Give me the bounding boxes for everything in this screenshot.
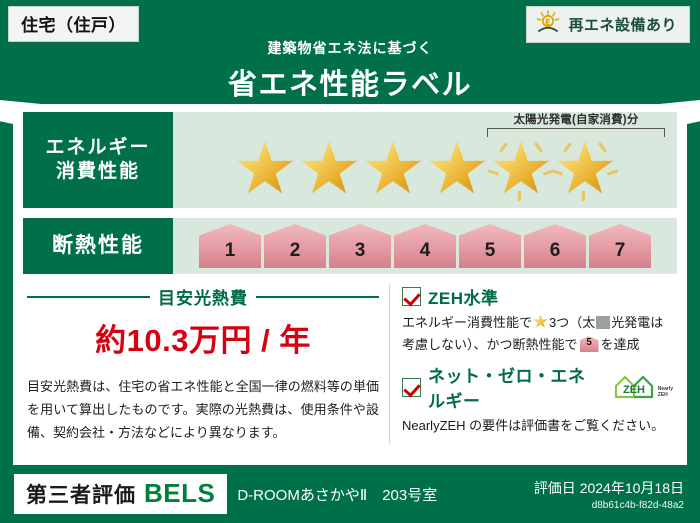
star-icon — [426, 138, 488, 200]
checkbox-checked-icon[interactable] — [402, 287, 421, 306]
insulation-performance-row: 断熱性能 1 2 3 — [23, 218, 677, 274]
lower-section: 目安光熱費 約10.3万円 / 年 目安光熱費は、住宅の省エネ性能と全国一律の燃… — [13, 274, 687, 444]
house-level-badge: 4 — [394, 224, 456, 268]
insulation-levels-panel: 1 2 3 4 — [173, 218, 677, 274]
zeh-house-mark-icon: ZEH — [612, 374, 656, 400]
solar-annotation-bracket — [487, 128, 665, 137]
bels-certification-badge: 第三者評価 BELS — [14, 474, 227, 514]
energy-stars-panel: 太陽光発電(自家消費)分 — [173, 112, 677, 208]
label-title-main: 省エネ性能ラベル — [0, 61, 700, 103]
house-level-badge: 7 — [589, 224, 651, 268]
energy-label-line1: エネルギー — [45, 136, 150, 160]
house-level-number: 1 — [225, 241, 236, 268]
house-level-number: 6 — [550, 241, 561, 268]
house-level-number: 7 — [615, 241, 626, 268]
energy-performance-row: エネルギー 消費性能 太陽光発電(自家消費)分 — [23, 112, 677, 208]
zeh-standard-check-item: ZEH水準 エネルギー消費性能で3つ（太光発電は考慮しない）、かつ断熱性能で5を… — [402, 284, 673, 356]
house-level-inline-number: 5 — [580, 336, 599, 352]
star-icon — [234, 138, 296, 200]
heading-rule-left — [27, 296, 150, 298]
utility-cost-column: 目安光熱費 約10.3万円 / 年 目安光熱費は、住宅の省エネ性能と全国一律の燃… — [27, 284, 379, 444]
energy-label-line2: 消費性能 — [56, 160, 140, 184]
bels-jp-label: 第三者評価 — [26, 479, 136, 509]
performance-rows: エネルギー 消費性能 太陽光発電(自家消費)分 — [13, 104, 687, 274]
zeh-logo-sublabel: Nearly ZEH — [658, 387, 673, 400]
property-name: D-ROOMあさかやⅡ 203号室 — [237, 484, 437, 505]
footer-bar: 第三者評価 BELS D-ROOMあさかやⅡ 203号室 評価日 2024年10… — [0, 465, 700, 523]
house-level-badge: 2 — [264, 224, 326, 268]
svg-text:ZEH: ZEH — [623, 384, 645, 396]
renewable-equipment-badge: 再エネ設備あり — [526, 6, 690, 43]
zeh-standard-title: ZEH水準 — [428, 284, 499, 309]
zeh-desc-part4: を達成 — [601, 337, 640, 352]
insulation-label-text: 断熱性能 — [52, 233, 144, 259]
insulation-level-scale: 1 2 3 4 — [199, 224, 651, 268]
star-solar-icon — [490, 138, 552, 200]
energy-performance-label: エネルギー 消費性能 — [23, 112, 173, 208]
zeh-desc-part1: エネルギー消費性能で — [402, 315, 532, 330]
star-icon — [533, 314, 548, 329]
evaluation-id: d8b61c4b-f82d-48a2 — [534, 500, 684, 511]
star-solar-icon — [554, 138, 616, 200]
zeh-desc-part2: 3つ（太 — [549, 315, 595, 330]
house-level-number: 2 — [290, 241, 301, 268]
utility-cost-heading-text: 目安光熱費 — [158, 284, 248, 309]
utility-cost-value: 約10.3万円 / 年 — [27, 315, 379, 360]
zeh-standard-check-head: ZEH水準 — [402, 284, 673, 309]
star-icon — [362, 138, 424, 200]
redacted-char-icon — [596, 316, 610, 329]
certification-column: ZEH水準 エネルギー消費性能で3つ（太光発電は考慮しない）、かつ断熱性能で5を… — [389, 284, 673, 444]
zeh-house-logo: ZEH Nearly ZEH — [612, 374, 673, 400]
utility-cost-note: 目安光熱費は、住宅の省エネ性能と全国一律の燃料等の単価を用いて算出したものです。… — [27, 376, 379, 444]
checkbox-checked-icon[interactable] — [402, 378, 421, 397]
house-level-badge: 1 — [199, 224, 261, 268]
evaluation-date: 評価日 2024年10月18日 — [534, 478, 684, 498]
solar-annotation-label: 太陽光発電(自家消費)分 — [483, 111, 669, 127]
house-type-tag: 住宅（住戸） — [8, 6, 139, 42]
bels-en-label: BELS — [144, 478, 215, 509]
zeh-standard-description: エネルギー消費性能で3つ（太光発電は考慮しない）、かつ断熱性能で5を達成 — [402, 312, 673, 356]
net-zero-energy-check-head: ネット・ゼロ・エネルギー ZEH Nearly — [402, 362, 673, 412]
house-level-badge: 5 — [459, 224, 521, 268]
net-zero-energy-description: NearlyZEH の要件は評価書をご覧ください。 — [402, 415, 673, 437]
energy-star-rating — [234, 138, 616, 200]
solar-contribution-annotation: 太陽光発電(自家消費)分 — [483, 111, 669, 137]
insulation-performance-label: 断熱性能 — [23, 218, 173, 274]
net-zero-energy-title: ネット・ゼロ・エネルギー — [428, 362, 601, 412]
star-icon — [298, 138, 360, 200]
house-level-badge: 3 — [329, 224, 391, 268]
utility-cost-heading: 目安光熱費 — [27, 284, 379, 309]
house-level-number: 3 — [355, 241, 366, 268]
zeh-logo-sub-line2: ZEH — [658, 392, 668, 398]
evaluation-meta: 評価日 2024年10月18日 d8b61c4b-f82d-48a2 — [534, 478, 684, 511]
label-content-card: エネルギー 消費性能 太陽光発電(自家消費)分 — [13, 104, 687, 465]
house-level-number: 5 — [485, 241, 496, 268]
sun-renewable-icon — [535, 10, 561, 39]
house-level-badge: 6 — [524, 224, 586, 268]
heading-rule-right — [256, 296, 379, 298]
house-level-number: 4 — [420, 241, 431, 268]
energy-label-root: 住宅（住戸） 再エネ設備あり 建築物省エネ法に基づく 省エネ性能ラベル — [0, 0, 700, 523]
net-zero-energy-check-item: ネット・ゼロ・エネルギー ZEH Nearly — [402, 362, 673, 437]
renewable-badge-label: 再エネ設備あり — [568, 14, 677, 35]
label-title-block: 建築物省エネ法に基づく 省エネ性能ラベル — [0, 38, 700, 103]
house-level-inline-icon: 5 — [580, 336, 599, 352]
